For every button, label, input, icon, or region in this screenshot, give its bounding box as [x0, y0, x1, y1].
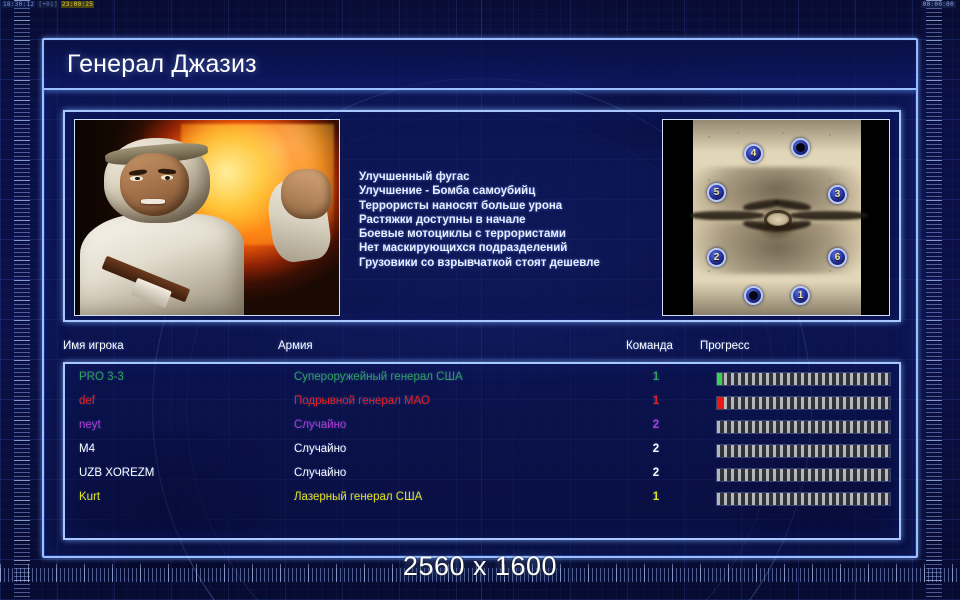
player-name: def: [79, 395, 95, 407]
map-start-position-empty-6[interactable]: [744, 286, 763, 305]
map-preview[interactable]: 453261: [662, 119, 890, 316]
player-team: 2: [646, 419, 666, 431]
player-team: 2: [646, 467, 666, 479]
description-line: Растяжки доступны в начале: [359, 213, 649, 227]
player-progress-fill: [717, 397, 724, 409]
column-header-progress: Прогресс: [700, 340, 750, 352]
player-progress-bar: [716, 468, 891, 482]
player-name: neyt: [79, 419, 101, 431]
column-header-army: Армия: [278, 340, 313, 352]
player-progress-bar: [716, 396, 891, 410]
player-army: Лазерный генерал США: [294, 491, 422, 503]
player-list-header: Имя игрока Армия Команда Прогресс: [63, 340, 901, 360]
telemetry-left: 18:30:12[+01]23:00:25: [2, 1, 96, 8]
map-start-position-1[interactable]: 1: [791, 286, 810, 305]
player-progress-bar: [716, 444, 891, 458]
player-progress-bar: [716, 420, 891, 434]
player-army: Случайно: [294, 443, 346, 455]
table-row[interactable]: UZB XOREZMСлучайно2: [65, 463, 899, 487]
table-row[interactable]: KurtЛазерный генерал США1: [65, 487, 899, 511]
player-list-body: PRO 3-3Супероружейный генерал США1defПод…: [63, 362, 901, 540]
portrait-artwork: [75, 120, 339, 315]
player-army: Подрывной генерал МАО: [294, 395, 430, 407]
general-description: Улучшенный фугас Улучшение - Бомба самоу…: [359, 170, 649, 270]
telemetry-segment-3: 23:00:25: [61, 1, 94, 8]
player-name: PRO 3-3: [79, 371, 124, 383]
general-portrait: [74, 119, 340, 316]
description-line: Грузовики со взрывчаткой стоят дешевле: [359, 256, 649, 270]
telemetry-right: 00:00:00: [921, 1, 956, 8]
description-line: Улучшенный фугас: [359, 170, 649, 184]
table-row[interactable]: M4Случайно2: [65, 439, 899, 463]
telemetry-segment-1: 18:30:12: [2, 1, 35, 8]
player-progress-bar: [716, 492, 891, 506]
description-line: Улучшение - Бомба самоубийц: [359, 184, 649, 198]
player-army: Супероружейный генерал США: [294, 371, 463, 383]
resolution-overlay: 2560 x 1600: [0, 551, 960, 582]
main-panel: Генерал Джазиз: [42, 38, 918, 558]
description-line: Нет маскирующихся подразделений: [359, 241, 649, 255]
game-lobby-screen: 18:30:12[+01]23:00:25 00:00:00 Генерал Д…: [0, 0, 960, 600]
column-header-team: Команда: [626, 340, 673, 352]
map-start-position-4[interactable]: 4: [744, 144, 763, 163]
player-team: 1: [646, 395, 666, 407]
column-header-name: Имя игрока: [63, 340, 124, 352]
table-row[interactable]: PRO 3-3Супероружейный генерал США1: [65, 367, 899, 391]
left-ruler-major-ticks: [14, 0, 30, 600]
player-name: Kurt: [79, 491, 100, 503]
left-ruler-ticks: [14, 0, 30, 600]
player-army: Случайно: [294, 419, 346, 431]
map-surface: 453261: [693, 120, 861, 316]
title-bar: Генерал Джазиз: [44, 40, 916, 90]
player-name: UZB XOREZM: [79, 467, 154, 479]
description-line: Боевые мотоциклы с террористами: [359, 227, 649, 241]
right-ruler-major-ticks: [926, 0, 942, 600]
player-list: Имя игрока Армия Команда Прогресс PRO 3-…: [63, 340, 901, 542]
player-team: 2: [646, 443, 666, 455]
player-progress-fill: [717, 373, 722, 385]
player-team: 1: [646, 491, 666, 503]
player-team: 1: [646, 371, 666, 383]
table-row[interactable]: defПодрывной генерал МАО1: [65, 391, 899, 415]
player-name: M4: [79, 443, 95, 455]
right-ruler-ticks: [926, 0, 942, 600]
player-army: Случайно: [294, 467, 346, 479]
map-start-position-empty-1[interactable]: [791, 138, 810, 157]
table-row[interactable]: neytСлучайно2: [65, 415, 899, 439]
page-title: Генерал Джазиз: [67, 50, 257, 79]
player-progress-bar: [716, 372, 891, 386]
general-info-panel: Улучшенный фугас Улучшение - Бомба самоу…: [63, 110, 901, 322]
telemetry-segment-2: [+01]: [37, 1, 59, 8]
description-line: Террористы наносят больше урона: [359, 199, 649, 213]
